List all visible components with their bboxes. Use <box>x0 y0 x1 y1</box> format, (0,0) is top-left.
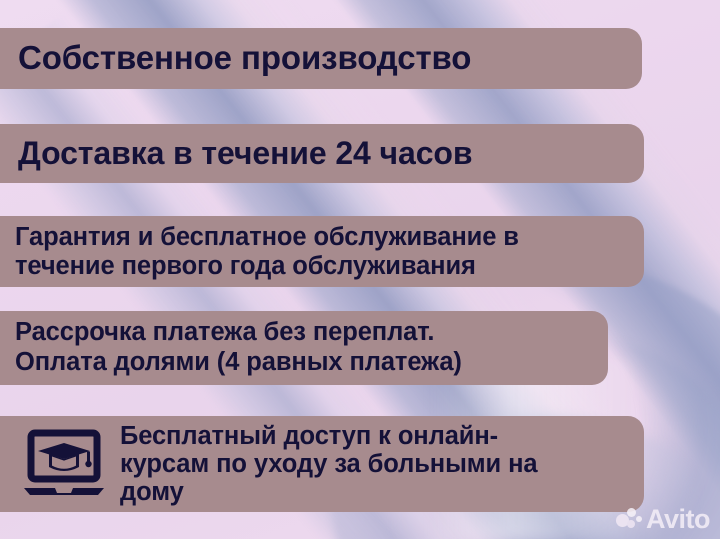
avito-watermark: Avito <box>616 506 710 533</box>
feature-banner-installment-plan: Рассрочка платежа без переплат. Оплата д… <box>0 311 608 385</box>
feature-banner-label: Доставка в течение 24 часов <box>18 137 472 171</box>
laptop-graduation-cap-icon <box>22 429 106 499</box>
feature-banner-own-production: Собственное производство <box>0 28 642 89</box>
feature-banner-warranty-service: Гарантия и бесплатное обслуживание в теч… <box>0 216 644 287</box>
feature-banner-label: Рассрочка платежа без переплат. Оплата д… <box>15 318 462 377</box>
feature-banner-free-online-courses: Бесплатный доступ к онлайн- курсам по ух… <box>0 416 644 512</box>
avito-wordmark: Avito <box>646 506 710 533</box>
feature-banner-label: Собственное производство <box>18 41 471 76</box>
feature-banner-delivery-24h: Доставка в течение 24 часов <box>0 124 644 183</box>
avito-dots-icon <box>616 507 642 533</box>
feature-banner-label: Гарантия и бесплатное обслуживание в теч… <box>15 223 519 279</box>
feature-banner-label: Бесплатный доступ к онлайн- курсам по ух… <box>120 422 537 507</box>
promo-poster: Собственное производство Доставка в тече… <box>0 0 720 539</box>
